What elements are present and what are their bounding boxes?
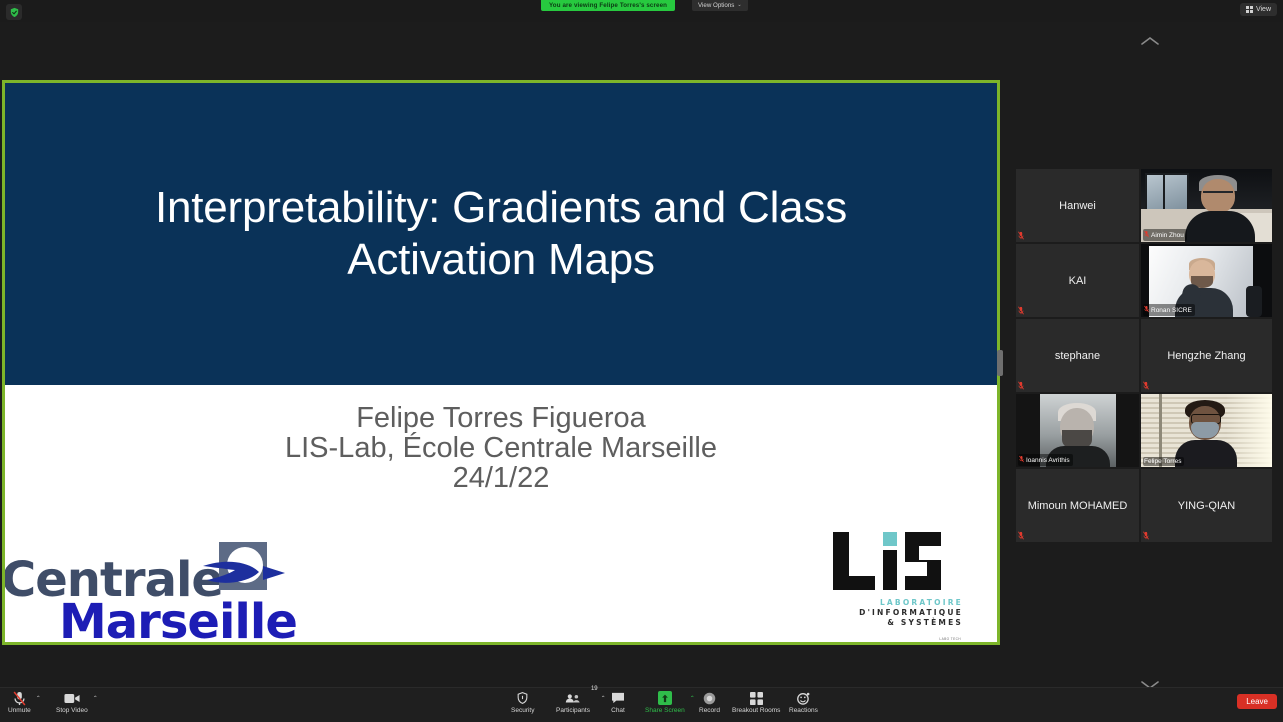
tile-row: Ioannis Avrithis Felipe Torres xyxy=(1016,394,1276,467)
participant-name: Aimin Zhou xyxy=(1151,232,1184,239)
unmute-button[interactable]: Unmute xyxy=(8,690,31,714)
mic-muted-icon xyxy=(1018,531,1024,540)
mic-muted-icon xyxy=(13,690,26,706)
participant-tile[interactable]: Ronan SICRE xyxy=(1141,244,1272,317)
tile-row: KAI xyxy=(1016,244,1276,317)
screen-share-notice: You are viewing Felipe Torres's screen xyxy=(541,0,675,11)
video-options-chevron-icon[interactable]: ⌃ xyxy=(93,695,98,702)
grid-rooms-icon xyxy=(750,690,763,706)
participant-tile[interactable]: Aimin Zhou xyxy=(1141,169,1272,242)
chevron-down-icon: ⌄ xyxy=(737,0,741,11)
video-group: Stop Video ⌃ xyxy=(56,690,98,714)
security-button[interactable]: Security xyxy=(511,690,534,714)
view-button-label: View xyxy=(1256,6,1271,13)
participant-tile[interactable]: stephane xyxy=(1016,319,1139,392)
slide-subtitle-block: Felipe Torres Figueroa LIS-Lab, École Ce… xyxy=(5,385,997,493)
participant-label: Aimin Zhou xyxy=(1143,229,1187,241)
camera-icon xyxy=(64,690,80,706)
mute-group: Unmute ⌃ xyxy=(8,690,41,714)
share-screen-label: Share Screen xyxy=(645,707,685,714)
participants-chevron-icon[interactable]: ⌃ xyxy=(601,695,606,702)
share-resize-handle[interactable] xyxy=(997,350,1003,376)
mic-muted-icon xyxy=(1019,455,1024,465)
chat-button[interactable]: Chat xyxy=(611,690,625,714)
lis-caption: LABORATOIRE D'INFORMATIQUE & SYSTÈMES xyxy=(859,598,963,628)
participant-name: Hengzhe Zhang xyxy=(1141,319,1272,392)
tile-row: Mimoun MOHAMED YING-QIAN xyxy=(1016,469,1276,542)
gallery-scroll-up[interactable] xyxy=(1016,28,1283,54)
participant-gallery: Hanwei xyxy=(1016,22,1283,688)
participant-tile[interactable]: Mimoun MOHAMED xyxy=(1016,469,1139,542)
zoom-meeting-window: You are viewing Felipe Torres's screen V… xyxy=(0,0,1283,722)
lis-caption-line2: D'INFORMATIQUE xyxy=(859,608,963,618)
participant-tile[interactable]: KAI xyxy=(1016,244,1139,317)
unmute-label: Unmute xyxy=(8,707,31,714)
participant-tiles: Hanwei xyxy=(1016,169,1276,544)
slide-body: Felipe Torres Figueroa LIS-Lab, École Ce… xyxy=(5,385,997,642)
share-screen-group: Share Screen ⌃ xyxy=(645,690,695,714)
share-screen-icon xyxy=(658,690,672,706)
participant-name: Mimoun MOHAMED xyxy=(1016,469,1139,542)
participant-label: Ioannis Avrithis xyxy=(1018,454,1073,466)
participant-name: Ioannis Avrithis xyxy=(1026,457,1070,464)
tile-row: Hanwei xyxy=(1016,169,1276,242)
mic-muted-icon xyxy=(1144,305,1149,315)
mic-muted-icon xyxy=(1143,381,1149,390)
tile-row: stephane Hengzhe Zhang xyxy=(1016,319,1276,392)
grid-view-icon xyxy=(1246,6,1253,13)
mic-muted-icon xyxy=(1018,231,1024,240)
participant-tile[interactable]: Ioannis Avrithis xyxy=(1016,394,1139,467)
mic-muted-icon xyxy=(1018,306,1024,315)
stop-video-label: Stop Video xyxy=(56,707,88,714)
lis-lab-logo: LABORATOIRE D'INFORMATIQUE & SYSTÈMES LA… xyxy=(815,520,963,638)
shield-icon xyxy=(516,690,529,706)
slide-title: Interpretability: Gradients and Class Ac… xyxy=(56,182,946,286)
stop-video-button[interactable]: Stop Video xyxy=(56,690,88,714)
mic-muted-icon xyxy=(1018,381,1024,390)
participant-tile[interactable]: YING-QIAN xyxy=(1141,469,1272,542)
participant-name: YING-QIAN xyxy=(1141,469,1272,542)
view-layout-button[interactable]: View xyxy=(1240,3,1277,16)
reactions-button[interactable]: Reactions xyxy=(789,690,818,714)
view-options-button[interactable]: View Options ⌄ xyxy=(692,0,748,11)
lis-caption-line1: LABORATOIRE xyxy=(859,598,963,608)
audio-options-chevron-icon[interactable]: ⌃ xyxy=(36,695,41,702)
meeting-toolbar: Unmute ⌃ Stop Video ⌃ xyxy=(0,687,1283,722)
participant-name: Felipe Torres xyxy=(1144,458,1181,465)
breakout-rooms-label: Breakout Rooms xyxy=(732,707,780,714)
breakout-rooms-button[interactable]: Breakout Rooms xyxy=(732,690,780,714)
lis-mark-icon xyxy=(831,530,943,592)
presenter-name: Felipe Torres Figueroa xyxy=(5,403,997,433)
presentation-slide: Interpretability: Gradients and Class Ac… xyxy=(5,83,997,642)
view-options-label: View Options xyxy=(698,0,734,11)
participant-label: Ronan SICRE xyxy=(1143,304,1195,316)
shared-screen-region[interactable]: Interpretability: Gradients and Class Ac… xyxy=(2,80,1000,645)
reactions-label: Reactions xyxy=(789,707,818,714)
people-icon xyxy=(565,690,581,706)
lis-tagline: LABO TECH xyxy=(939,637,961,641)
participant-name: stephane xyxy=(1016,319,1139,392)
slide-header-band: Interpretability: Gradients and Class Ac… xyxy=(5,83,997,385)
record-button[interactable]: Record xyxy=(699,690,720,714)
presentation-date: 24/1/22 xyxy=(5,463,997,493)
security-label: Security xyxy=(511,707,534,714)
participants-count: 19 xyxy=(591,686,598,692)
leave-meeting-button[interactable]: Leave xyxy=(1237,694,1277,709)
chat-label: Chat xyxy=(611,707,625,714)
participant-name: Ronan SICRE xyxy=(1151,307,1192,314)
participants-label: Participants xyxy=(556,707,590,714)
participant-tile[interactable]: Hanwei xyxy=(1016,169,1139,242)
chevron-up-icon xyxy=(1140,36,1160,46)
presenter-affiliation: LIS-Lab, École Centrale Marseille xyxy=(5,433,997,463)
top-bar: You are viewing Felipe Torres's screen V… xyxy=(0,0,1283,22)
encryption-shield-icon[interactable] xyxy=(6,4,22,20)
participant-name: Hanwei xyxy=(1016,169,1139,242)
participant-label: Felipe Torres xyxy=(1143,457,1184,466)
lis-caption-line3: & SYSTÈMES xyxy=(859,618,963,628)
record-circle-icon xyxy=(703,690,716,706)
participants-group: Participants 19 ⌃ xyxy=(556,690,606,714)
centrale-marseille-logo: Centrale Marseille xyxy=(2,540,301,645)
mic-muted-icon xyxy=(1143,531,1149,540)
participant-name: KAI xyxy=(1016,244,1139,317)
centrale-emblem-icon xyxy=(209,542,271,604)
participants-button[interactable]: Participants xyxy=(556,690,590,714)
share-screen-button[interactable]: Share Screen xyxy=(645,690,685,714)
share-options-chevron-icon[interactable]: ⌃ xyxy=(690,695,695,702)
mic-muted-icon xyxy=(1144,230,1149,240)
reactions-icon xyxy=(797,690,810,706)
participant-tile-active-speaker[interactable]: Felipe Torres xyxy=(1141,394,1272,467)
record-label: Record xyxy=(699,707,720,714)
participant-tile[interactable]: Hengzhe Zhang xyxy=(1141,319,1272,392)
chat-bubble-icon xyxy=(611,690,625,706)
